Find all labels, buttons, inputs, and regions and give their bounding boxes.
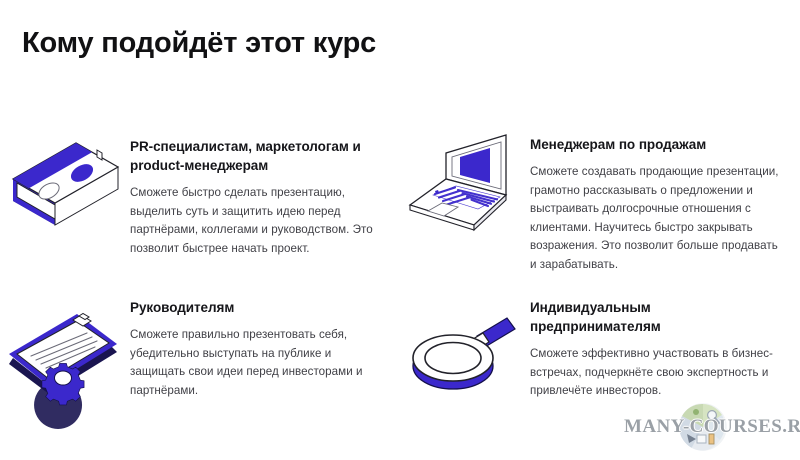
- card-title: Менеджерам по продажам: [530, 135, 780, 154]
- clipboard-gear-icon: [0, 290, 130, 400]
- card-body: Менеджерам по продажам Сможете создавать…: [530, 125, 780, 274]
- magnifier-icon: [400, 290, 530, 400]
- book-icon: [0, 125, 130, 235]
- card-title: PR-специалистам, маркетологам и product-…: [130, 137, 380, 175]
- card-text: Сможете правильно презентовать себя, убе…: [130, 326, 380, 400]
- watermark-text: MANY-COURSES.RU: [624, 416, 792, 438]
- card-text: Сможете эффективно участвовать в бизнес-…: [530, 345, 780, 401]
- card-sales-managers: Менеджерам по продажам Сможете создавать…: [400, 125, 800, 290]
- card-executives: Руководителям Сможете правильно презенто…: [0, 290, 400, 401]
- card-body: Руководителям Сможете правильно презенто…: [130, 290, 380, 400]
- card-entrepreneurs: Индивидуальным предпринимателям Сможете …: [400, 290, 800, 401]
- card-body: PR-специалистам, маркетологам и product-…: [130, 125, 380, 258]
- card-title: Руководителям: [130, 298, 380, 317]
- card-body: Индивидуальным предпринимателям Сможете …: [530, 290, 780, 401]
- laptop-icon: [400, 125, 530, 235]
- card-text: Сможете быстро сделать презентацию, выде…: [130, 184, 380, 258]
- watermark: MANY-COURSES.RU: [624, 400, 792, 454]
- page-title: Кому подойдёт этот курс: [22, 23, 382, 63]
- card-title: Индивидуальным предпринимателям: [530, 298, 780, 336]
- audience-cards-grid: PR-специалистам, маркетологам и product-…: [0, 125, 800, 401]
- card-text: Сможете создавать продающие презентации,…: [530, 163, 780, 274]
- card-pr-specialists: PR-специалистам, маркетологам и product-…: [0, 125, 400, 290]
